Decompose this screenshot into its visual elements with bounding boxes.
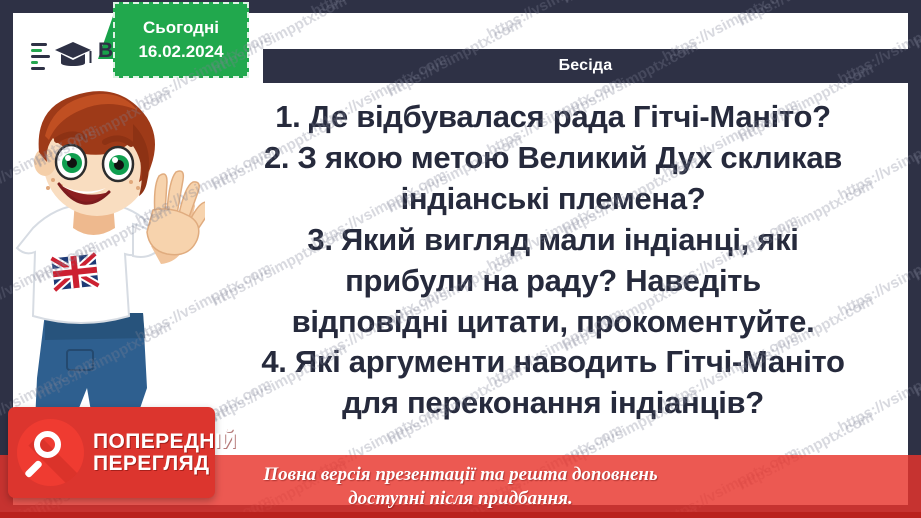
magnifier-icon bbox=[17, 419, 84, 486]
slide-header-bar: Бесіда bbox=[263, 49, 908, 83]
date-badge-label: Сьогодні bbox=[143, 18, 219, 38]
uk-flag-patch bbox=[51, 254, 98, 290]
question-line: 2. З якою метою Великий Дух скликав bbox=[198, 138, 908, 179]
notice-line-1: Повна версія презентації та решта доповн… bbox=[263, 464, 657, 486]
preview-label-line-2: ПЕРЕГЛЯД bbox=[93, 453, 237, 475]
logo-speed-lines-icon bbox=[31, 43, 50, 70]
question-line: 1. Де відбувалася рада Гітчі-Маніто? bbox=[198, 97, 908, 138]
question-line: для переконання індіанців? bbox=[198, 383, 908, 424]
question-line: відповідні цитати, прокоментуйте. bbox=[198, 302, 908, 343]
preview-label-line-1: ПОПЕРЕДНІЙ bbox=[93, 431, 237, 453]
preview-badge-labels: ПОПЕРЕДНІЙ ПЕРЕГЛЯД bbox=[93, 431, 237, 475]
preview-badge[interactable]: ПОПЕРЕДНІЙ ПЕРЕГЛЯД bbox=[8, 407, 215, 498]
questions-block: 1. Де відбувалася рада Гітчі-Маніто? 2. … bbox=[198, 97, 908, 424]
cartoon-boy-illustration bbox=[15, 88, 205, 423]
question-line: 3. Який вигляд мали індіанці, які bbox=[198, 220, 908, 261]
question-line: індіанські племена? bbox=[198, 179, 908, 220]
slide-root: 1. Де відбувалася рада Гітчі-Маніто? 2. … bbox=[0, 0, 921, 518]
question-line: 4. Які аргументи наводить Гітчі-Маніто bbox=[198, 342, 908, 383]
banner-bottom-rule bbox=[0, 512, 921, 518]
graduation-cap-icon bbox=[53, 39, 93, 73]
page-title: Бесіда bbox=[559, 57, 613, 75]
today-date-badge: Сьогодні 16.02.2024 bbox=[113, 2, 249, 78]
question-line: прибули на раду? Наведіть bbox=[198, 261, 908, 302]
notice-line-2: доступні після придбання. bbox=[348, 488, 572, 510]
date-badge-value: 16.02.2024 bbox=[138, 42, 223, 62]
